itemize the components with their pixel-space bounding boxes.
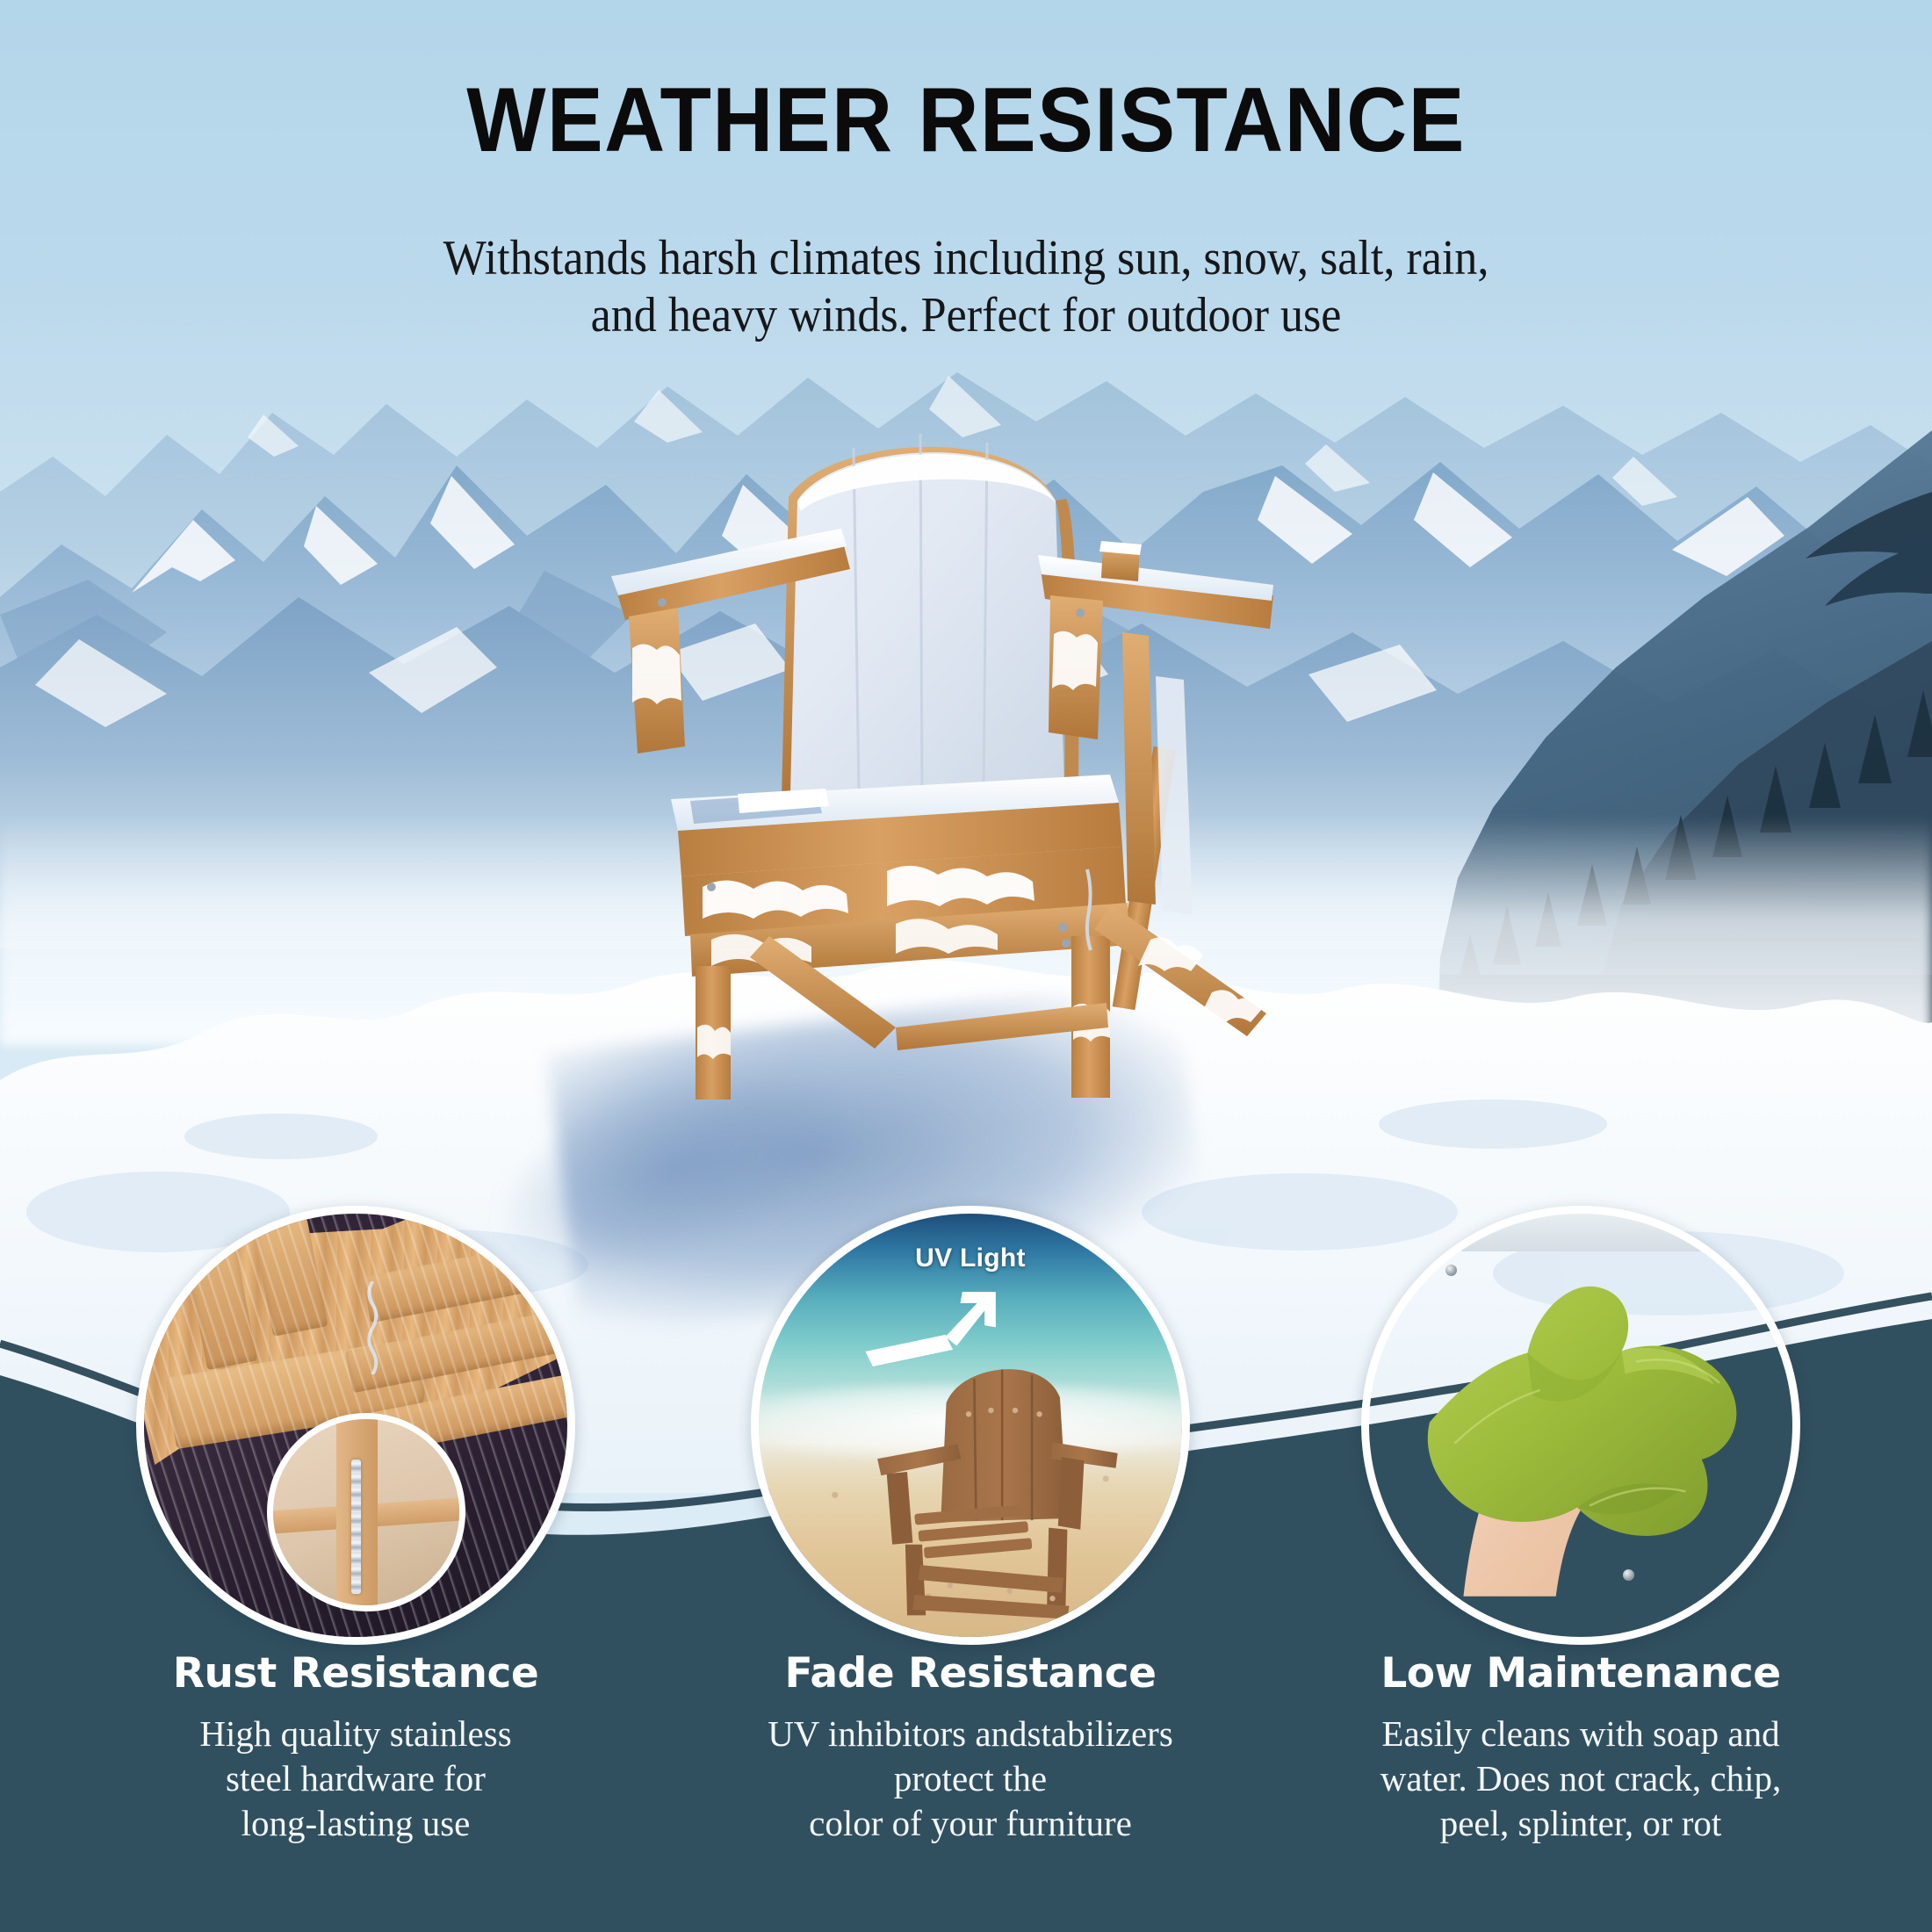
microfiber-cloth [1395,1248,1767,1604]
desc-line: Easily cleans with soap and [1344,1712,1818,1756]
weather-resistance-infographic: UV Light [0,0,1932,1932]
chain-detail-inset [267,1413,466,1612]
feature-desc-low-maintenance: Easily cleans with soap and water. Does … [1344,1712,1818,1845]
subtitle-line-2: and heavy winds. Perfect for outdoor use [591,288,1342,342]
uv-light-label: UV Light [759,1244,1182,1273]
feature-text-fade: Fade Resistance UV inhibitors andstabili… [733,1649,1207,1845]
desc-line: water. Does not crack, chip, [1344,1756,1818,1801]
feature-text-low-maintenance: Low Maintenance Easily cleans with soap … [1344,1649,1818,1845]
desc-line: protect the [733,1756,1207,1801]
desc-line: High quality stainless [119,1712,593,1756]
page-subtitle: Withstands harsh climates including sun,… [354,230,1579,344]
page-title: WEATHER RESISTANCE [77,68,1855,173]
feature-desc-rust: High quality stainless steel hardware fo… [119,1712,593,1845]
feature-image-rust-resistance [136,1206,575,1645]
feature-image-fade-resistance: UV Light [751,1206,1190,1645]
desc-line: color of your furniture [733,1801,1207,1846]
feature-title-low-maintenance: Low Maintenance [1344,1649,1818,1698]
desc-line: long-lasting use [119,1801,593,1846]
feature-title-fade: Fade Resistance [733,1649,1207,1698]
desc-line: UV inhibitors andstabilizers [733,1712,1207,1756]
beach-chair-illustration [861,1341,1140,1629]
feature-image-low-maintenance [1361,1206,1800,1645]
hero-adirondack-chair [606,413,1326,1142]
subtitle-line-1: Withstands harsh climates including sun,… [443,231,1489,285]
desc-line: peel, splinter, or rot [1344,1801,1818,1846]
desc-line: steel hardware for [119,1756,593,1801]
feature-text-rust: Rust Resistance High quality stainless s… [119,1649,593,1845]
feature-title-rust: Rust Resistance [119,1649,593,1698]
feature-desc-fade: UV inhibitors andstabilizers protect the… [733,1712,1207,1845]
